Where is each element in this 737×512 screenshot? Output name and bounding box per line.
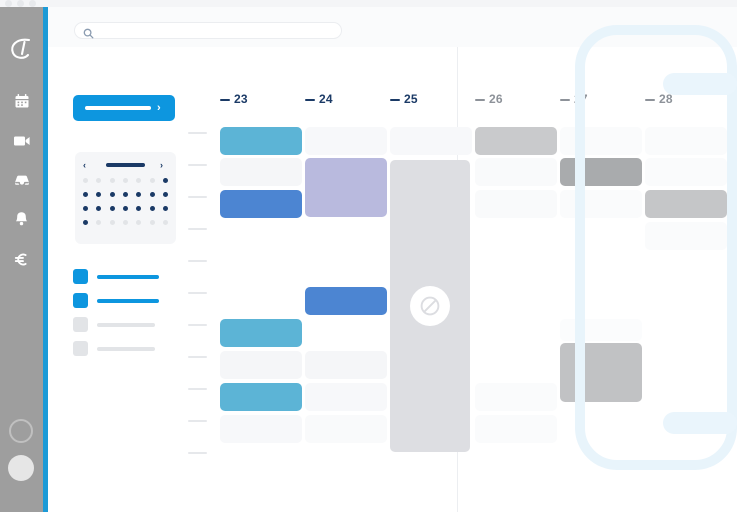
- column-header-26[interactable]: 26: [475, 92, 503, 112]
- primary-cta-button[interactable]: ›: [73, 95, 175, 121]
- event-slot[interactable]: [475, 190, 557, 218]
- legend-item[interactable]: [73, 317, 178, 332]
- search-box[interactable]: [74, 22, 342, 39]
- event-slot[interactable]: [305, 158, 387, 217]
- event-slot[interactable]: [220, 383, 302, 411]
- mini-calendar-day[interactable]: [136, 192, 141, 197]
- event-slot[interactable]: [220, 190, 302, 218]
- event-slot[interactable]: [305, 287, 387, 315]
- time-tick: [188, 292, 207, 294]
- mini-calendar-grid[interactable]: [83, 178, 168, 234]
- time-tick: [188, 356, 207, 358]
- legend-checkbox[interactable]: [73, 341, 88, 356]
- event-slot[interactable]: [220, 415, 302, 443]
- left-panel: › ‹ ›: [48, 47, 180, 512]
- mini-calendar-day[interactable]: [163, 178, 168, 183]
- sidebar-item-notifications[interactable]: [0, 205, 43, 233]
- legend-label-placeholder: [97, 299, 159, 303]
- calendar-legend[interactable]: [73, 269, 178, 365]
- event-slot[interactable]: [645, 222, 727, 250]
- mini-calendar-header: ‹ ›: [75, 158, 176, 172]
- mini-calendar-day[interactable]: [83, 220, 88, 225]
- column-header-24[interactable]: 24: [305, 92, 333, 112]
- time-gutter: [184, 47, 210, 512]
- mini-calendar-day[interactable]: [136, 206, 141, 211]
- event-slot[interactable]: [645, 190, 727, 218]
- event-slot[interactable]: [645, 127, 727, 155]
- column-header-dash-icon: [645, 99, 655, 101]
- column-header-label: 26: [489, 92, 503, 106]
- event-slot[interactable]: [305, 415, 387, 443]
- window-controls[interactable]: [5, 0, 36, 7]
- mini-calendar-day[interactable]: [136, 220, 141, 225]
- event-slot[interactable]: [560, 127, 642, 155]
- mini-calendar-day[interactable]: [96, 206, 101, 211]
- mini-calendar-day[interactable]: [163, 206, 168, 211]
- event-slot[interactable]: [305, 383, 387, 411]
- focus-overlay-pill: [663, 73, 737, 95]
- window-titlebar: [0, 0, 737, 7]
- event-slot[interactable]: [560, 343, 642, 402]
- time-tick: [188, 452, 207, 454]
- column-header-28[interactable]: 28: [645, 92, 673, 112]
- event-slot[interactable]: [390, 127, 472, 155]
- maximize-dot-icon[interactable]: [29, 0, 36, 7]
- event-slot[interactable]: [560, 190, 642, 218]
- time-tick: [188, 420, 207, 422]
- column-header-27[interactable]: 27: [560, 92, 588, 112]
- column-header-dash-icon: [390, 99, 400, 101]
- legend-checkbox[interactable]: [73, 293, 88, 308]
- event-slot[interactable]: [475, 158, 557, 186]
- top-bar: [48, 7, 737, 47]
- prev-month-button[interactable]: ‹: [83, 158, 86, 172]
- close-dot-icon[interactable]: [5, 0, 12, 7]
- event-slot[interactable]: [645, 158, 727, 186]
- mini-calendar-day[interactable]: [83, 178, 88, 183]
- sidebar-item-calendar[interactable]: [0, 87, 43, 115]
- legend-checkbox[interactable]: [73, 269, 88, 284]
- brand-logo[interactable]: [0, 29, 43, 69]
- time-tick: [188, 164, 207, 166]
- sidebar-item-billing[interactable]: [0, 245, 43, 273]
- sidebar-item-inbox[interactable]: [0, 166, 43, 194]
- time-tick: [188, 132, 207, 134]
- event-slot[interactable]: [220, 319, 302, 347]
- mini-calendar-day[interactable]: [123, 220, 128, 225]
- time-tick: [188, 196, 207, 198]
- mini-calendar-day[interactable]: [110, 206, 115, 211]
- sidebar-item-meetings[interactable]: [0, 127, 43, 155]
- search-input[interactable]: [99, 23, 333, 40]
- next-month-button[interactable]: ›: [160, 158, 163, 172]
- mini-calendar-day[interactable]: [110, 178, 115, 183]
- legend-item[interactable]: [73, 269, 178, 284]
- mini-calendar-title: [106, 163, 145, 167]
- legend-label-placeholder: [97, 347, 155, 351]
- column-header-label: 25: [404, 92, 418, 106]
- sidebar-rail: [0, 7, 43, 512]
- mini-calendar-day[interactable]: [123, 192, 128, 197]
- time-tick: [188, 388, 207, 390]
- event-slot[interactable]: [220, 158, 302, 186]
- event-slot[interactable]: [560, 158, 642, 186]
- column-header-label: 24: [319, 92, 333, 106]
- mini-calendar-day[interactable]: [123, 206, 128, 211]
- mini-calendar-day[interactable]: [163, 192, 168, 197]
- column-header-label: 23: [234, 92, 248, 106]
- event-slot[interactable]: [305, 127, 387, 155]
- app-root: › ‹ › 232425262728: [0, 0, 737, 512]
- mini-calendar-day[interactable]: [136, 178, 141, 183]
- column-header-dash-icon: [305, 99, 315, 101]
- event-slot[interactable]: [220, 351, 302, 379]
- help-circle-icon[interactable]: [9, 419, 33, 443]
- event-slot[interactable]: [475, 415, 557, 443]
- column-header-dash-icon: [475, 99, 485, 101]
- mini-calendar-day[interactable]: [150, 206, 155, 211]
- event-slot[interactable]: [305, 351, 387, 379]
- column-header-23[interactable]: 23: [220, 92, 248, 112]
- search-icon: [83, 26, 94, 37]
- mini-calendar-day[interactable]: [163, 220, 168, 225]
- mini-calendar-week: [83, 220, 168, 225]
- mini-calendar-day[interactable]: [123, 178, 128, 183]
- column-header-dash-icon: [560, 99, 570, 101]
- chevron-right-icon: ›: [157, 103, 161, 114]
- mini-calendar-day[interactable]: [150, 220, 155, 225]
- mini-calendar-day[interactable]: [150, 178, 155, 183]
- column-header-dash-icon: [220, 99, 230, 101]
- column-header-25[interactable]: 25: [390, 92, 418, 112]
- cta-label-placeholder: [85, 106, 151, 110]
- mini-calendar-week: [83, 206, 168, 211]
- legend-item[interactable]: [73, 341, 178, 356]
- user-avatar[interactable]: [8, 455, 34, 481]
- event-slot[interactable]: [475, 127, 557, 155]
- mini-calendar-day[interactable]: [83, 206, 88, 211]
- time-tick: [188, 228, 207, 230]
- event-slot[interactable]: [220, 127, 302, 155]
- legend-label-placeholder: [97, 275, 159, 279]
- mini-calendar-day[interactable]: [150, 192, 155, 197]
- mini-calendar-day[interactable]: [110, 220, 115, 225]
- mini-calendar-day[interactable]: [96, 220, 101, 225]
- mini-calendar[interactable]: ‹ ›: [75, 152, 176, 244]
- minimize-dot-icon[interactable]: [17, 0, 24, 7]
- time-tick: [188, 324, 207, 326]
- legend-label-placeholder: [97, 323, 155, 327]
- column-header-label: 27: [574, 92, 588, 106]
- legend-item[interactable]: [73, 293, 178, 308]
- event-slot[interactable]: [560, 319, 642, 341]
- mini-calendar-day[interactable]: [83, 192, 88, 197]
- focus-overlay-pill: [663, 412, 737, 434]
- blocked-day-column[interactable]: [390, 160, 470, 452]
- calendar-grid: 232425262728: [180, 47, 737, 512]
- legend-checkbox[interactable]: [73, 317, 88, 332]
- time-tick: [188, 260, 207, 262]
- mini-calendar-day[interactable]: [96, 178, 101, 183]
- mini-calendar-day[interactable]: [110, 192, 115, 197]
- mini-calendar-week: [83, 178, 168, 183]
- mini-calendar-day[interactable]: [96, 192, 101, 197]
- prohibited-icon: [410, 286, 450, 326]
- event-slot[interactable]: [475, 383, 557, 411]
- mini-calendar-week: [83, 192, 168, 197]
